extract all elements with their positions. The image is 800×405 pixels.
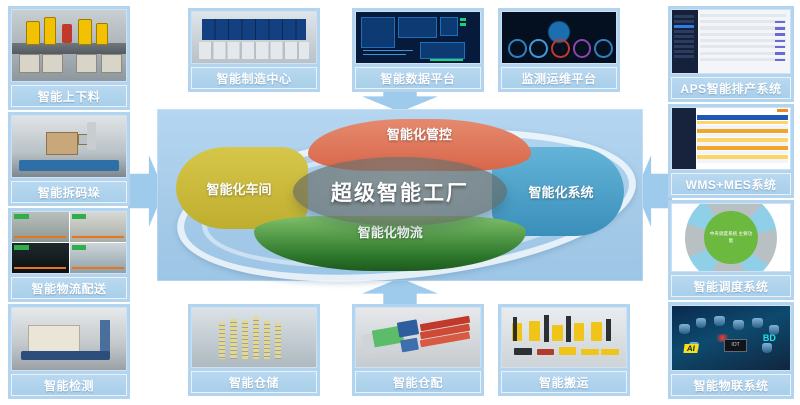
thumb-smart-handling	[501, 307, 627, 368]
thumb-control-center	[191, 11, 317, 64]
iot-chip-label: IOT	[724, 339, 747, 351]
card-top-2[interactable]: 监测运维平台	[498, 8, 620, 92]
card-left-2[interactable]: 智能物流配送	[8, 208, 130, 302]
thumb-inspection-agv	[11, 307, 127, 371]
arrow-bottom-to-center	[362, 278, 438, 306]
card-top-1-label: 智能数据平台	[355, 67, 481, 89]
card-left-1-label: 智能拆码垛	[11, 181, 127, 203]
card-right-3-label: 智能物联系统	[671, 374, 791, 396]
card-bottom-0[interactable]: 智能仓储	[188, 304, 320, 396]
iot-ai-badge: AI	[683, 344, 698, 353]
thumb-smart-warehouse	[191, 307, 317, 368]
card-bottom-0-label: 智能仓储	[191, 371, 317, 393]
thumb-dispatch-system: 中央调度系统 主要功能	[671, 203, 791, 272]
card-top-2-label: 监测运维平台	[501, 67, 617, 89]
dispatch-donut: 中央调度系统 主要功能	[685, 203, 777, 272]
card-left-0[interactable]: 智能上下料	[8, 6, 130, 110]
thumb-aps-system	[671, 9, 791, 74]
card-bottom-1-label: 智能仓配	[355, 371, 481, 393]
thumb-logistics-delivery	[11, 211, 127, 274]
dispatch-donut-center-label: 中央调度系统 主要功能	[704, 211, 757, 264]
card-right-1-label: WMS+MES系统	[671, 173, 791, 195]
card-left-0-label: 智能上下料	[11, 85, 127, 107]
card-bottom-1[interactable]: 智能仓配	[352, 304, 484, 396]
thumb-monitoring-platform	[501, 11, 617, 64]
iot-bd-badge: BD	[763, 333, 776, 343]
center-hub-label: 超级智能工厂	[293, 157, 507, 226]
card-right-1[interactable]: WMS+MES系统	[668, 104, 794, 198]
card-left-3-label: 智能检测	[11, 374, 127, 396]
thumb-iot-system: IOT AI BD	[671, 305, 791, 371]
infographic-canvas: 智能上下料 智能拆码垛 智能物流配送	[0, 0, 800, 405]
thumb-palletizing	[11, 115, 127, 178]
card-right-2[interactable]: 中央调度系统 主要功能 智能调度系统	[668, 200, 794, 300]
thumb-loading-robots	[11, 9, 127, 82]
card-top-0[interactable]: 智能制造中心	[188, 8, 320, 92]
card-right-2-label: 智能调度系统	[671, 275, 791, 297]
card-left-1[interactable]: 智能拆码垛	[8, 112, 130, 206]
petal-smart-workshop[interactable]: 智能化车间	[176, 147, 307, 230]
thumb-data-platform	[355, 11, 481, 64]
card-right-0-label: APS智能排产系统	[671, 77, 791, 99]
card-bottom-2-label: 智能搬运	[501, 371, 627, 393]
card-bottom-2[interactable]: 智能搬运	[498, 304, 630, 396]
thumb-wms-mes-system	[671, 107, 791, 170]
card-right-0[interactable]: APS智能排产系统	[668, 6, 794, 102]
card-top-1[interactable]: 智能数据平台	[352, 8, 484, 92]
center-diagram: 智能化车间 智能化系统 智能化管控 智能化物流 超级智能工厂	[157, 109, 643, 281]
card-top-0-label: 智能制造中心	[191, 67, 317, 89]
card-left-2-label: 智能物流配送	[11, 277, 127, 299]
card-left-3[interactable]: 智能检测	[8, 304, 130, 399]
card-right-3[interactable]: IOT AI BD 智能物联系统	[668, 302, 794, 399]
thumb-smart-sorting	[355, 307, 481, 368]
